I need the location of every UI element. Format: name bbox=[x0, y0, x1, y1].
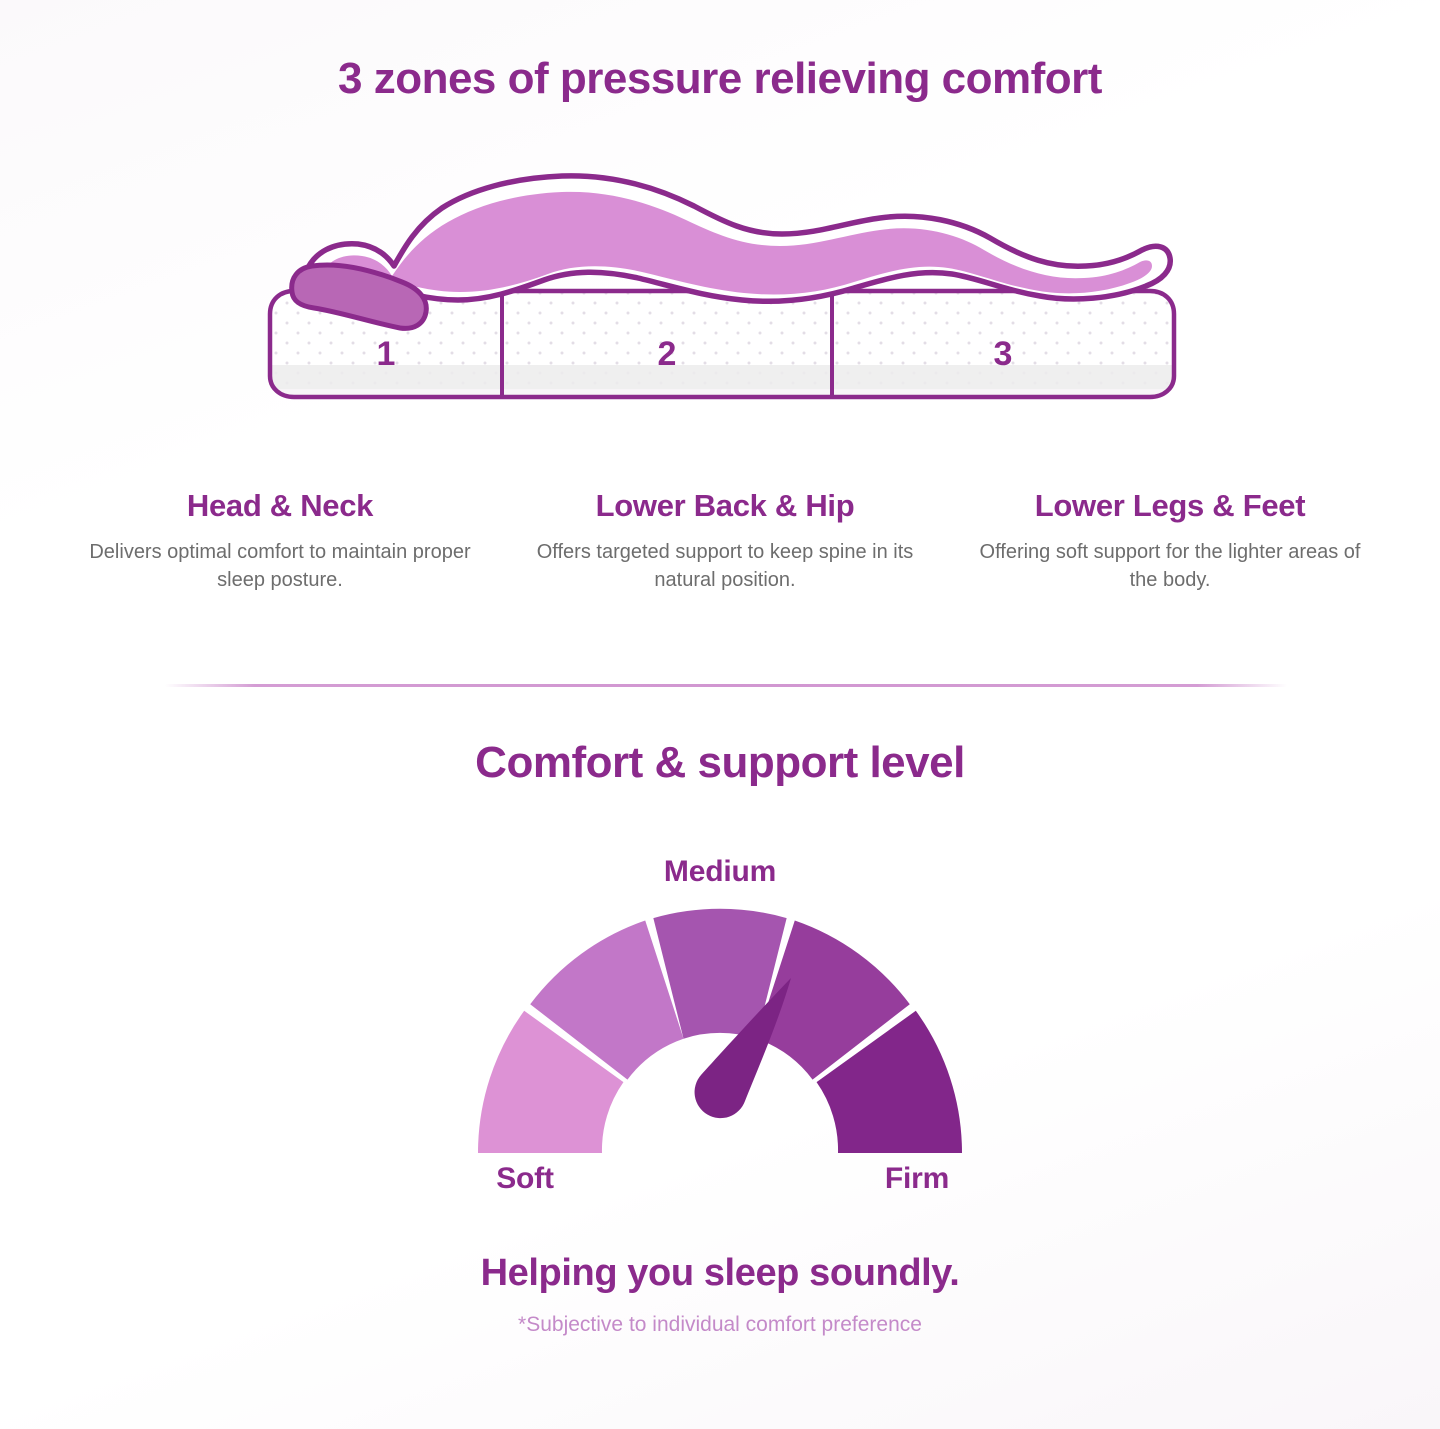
section-divider bbox=[165, 684, 1287, 687]
zones-section-title: 3 zones of pressure relieving comfort bbox=[0, 54, 1440, 104]
comfort-gauge-chart bbox=[420, 845, 1020, 1215]
gauge-label-firm: Firm bbox=[822, 1162, 1012, 1196]
zone-description-lower-legs-feet: Offering soft support for the lighter ar… bbox=[950, 538, 1390, 595]
closing-statement: Helping you sleep soundly. bbox=[0, 1252, 1440, 1295]
zone-number-2: 2 bbox=[658, 335, 677, 373]
footnote-disclaimer: *Subjective to individual comfort prefer… bbox=[0, 1313, 1440, 1337]
gauge-label-medium: Medium bbox=[0, 855, 1440, 889]
comfort-section-title: Comfort & support level bbox=[0, 738, 1440, 788]
sleeper-silhouette bbox=[295, 176, 1170, 302]
gauge-label-soft: Soft bbox=[430, 1162, 620, 1196]
zone-number-3: 3 bbox=[994, 335, 1013, 373]
zone-number-1: 1 bbox=[377, 335, 396, 373]
zone-title-lower-back-hip: Lower Back & Hip bbox=[505, 488, 945, 524]
zone-title-head-neck: Head & Neck bbox=[60, 488, 500, 524]
zone-column-head-neck: Head & Neck Delivers optimal comfort to … bbox=[60, 488, 500, 594]
zone-description-lower-back-hip: Offers targeted support to keep spine in… bbox=[505, 538, 945, 595]
zone-description-head-neck: Delivers optimal comfort to maintain pro… bbox=[60, 538, 500, 595]
zone-column-lower-back-hip: Lower Back & Hip Offers targeted support… bbox=[505, 488, 945, 594]
infographic-page: 3 zones of pressure relieving comfort bbox=[0, 0, 1440, 1429]
zone-title-lower-legs-feet: Lower Legs & Feet bbox=[950, 488, 1390, 524]
mattress-diagram: 1 2 3 bbox=[262, 160, 1182, 410]
zone-column-lower-legs-feet: Lower Legs & Feet Offering soft support … bbox=[950, 488, 1390, 594]
zone-columns: Head & Neck Delivers optimal comfort to … bbox=[60, 488, 1390, 594]
